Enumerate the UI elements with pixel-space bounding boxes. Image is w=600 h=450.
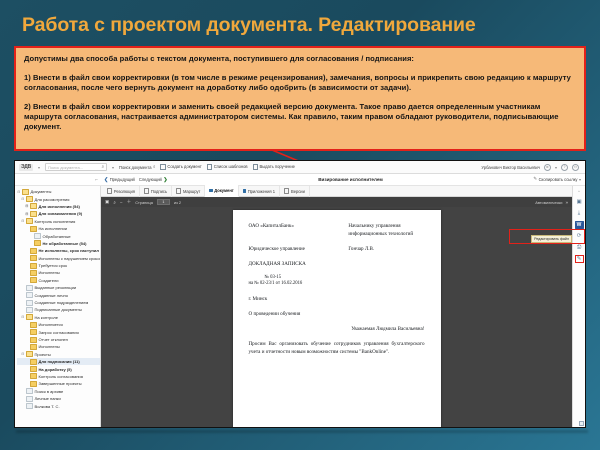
record-navigation: ❮ Предыдущий Следующий ❯ [101,177,168,183]
document-viewer[interactable]: ОАО «КапиталБанк» Начальнику управления … [101,207,572,428]
prev-record-label: Предыдущий [110,177,135,182]
chevron-down-icon: ▾ [579,177,581,182]
folder-icon [30,366,37,372]
sidebar-item[interactable]: Исполнены с нарушением сроков [17,255,100,262]
sidebar-item-label: Не обработанные (54) [43,241,87,246]
blue-square-icon [209,189,212,192]
sidebar-item-label: Для рассмотрения [35,197,70,202]
sidebar-item-label: Требуется срок [39,263,67,268]
sidebar-item[interactable]: Волкова Т. С. [17,402,100,409]
nav-link-label: Список шаблонов [214,164,248,169]
folder-icon [30,248,37,254]
list-icon [207,164,212,169]
help-icon[interactable]: ? [561,164,568,171]
tab-4[interactable]: Документ [205,185,238,197]
sidebar-item[interactable]: ⊟Контроль исполнения [17,218,100,225]
zoom-out-icon[interactable]: − [120,200,123,205]
sidebar-item-label: Не исполнены, срок наступил [39,248,99,253]
folder-icon [30,277,37,283]
document-letterhead: ОАО «КапиталБанк» Начальнику управления … [249,222,425,238]
sidebar-item[interactable]: Выданные резолюции [17,284,100,291]
search-input[interactable]: Поиск документа... ⌕ [45,163,107,171]
folder-icon [30,255,37,261]
tree-expand-icon[interactable]: ⊟ [25,204,29,208]
nav-link-search-document[interactable]: Поиск документа ⌕ [119,165,155,170]
document-dept: Юридическое управление [249,245,339,253]
sidebar-item[interactable]: ⊟На контроле [17,314,100,321]
document-addressee: Начальнику управления информационных тех… [348,222,424,238]
tree-expand-icon[interactable]: ⊟ [21,197,25,201]
viewer-toolbar: ▣ ⌕ − ＋ Страница 1 из 2 Автоматически » [101,197,572,207]
folder-icon [30,263,37,269]
nav-link-templates[interactable]: Список шаблонов [207,164,248,169]
zoom-in-icon[interactable]: ＋ [127,199,132,205]
sidebar-item[interactable]: Не исполнены, срок наступил [17,247,100,254]
route-icon [176,188,181,193]
sidebar-item[interactable]: Поиск в архиве [17,388,100,395]
sidebar-item-label: Личные папки [35,396,61,401]
prev-record-button[interactable]: ❮ Предыдущий [104,177,135,183]
sidebar-collapse-area[interactable]: ⌐ [15,177,101,183]
chevron-left-icon: ❮ [104,177,108,183]
tab-label: Резолюция [114,186,135,197]
folder-icon [26,351,33,357]
document-tabs[interactable]: РезолюцияПодписьМаршрутДокументПриложени… [101,186,572,197]
sidebar-item-label: Подписанные документы [35,307,82,312]
folder-icon [34,240,41,246]
sidebar-item[interactable]: ⊟Для ознакомления (9) [17,210,100,217]
sidebar-item-label: Исполняется [39,322,63,327]
document-greeting: Уважаемая Людмила Васильевна! [249,325,425,333]
sidebar-item[interactable]: Не обработанные (54) [17,240,100,247]
tab-label: Версии [291,186,305,197]
sidebar-item-label: Волкова Т. С. [35,404,60,409]
power-icon[interactable]: ⏻ [572,164,579,171]
copy-link-label: Скопировать ссылку [539,177,578,182]
document-icon [160,164,165,169]
document-city: г. Минск [249,295,425,303]
folder-icon [26,403,33,409]
search-options-chevron-icon[interactable]: ▾ [112,165,114,170]
sidebar-item-label: Завершенные проекты [39,381,82,386]
sidebar-item[interactable]: Контроль согласования [17,373,100,380]
sidebar-item-label: Запрос согласования [39,330,79,335]
callout-paragraph-3: 2) Внести в файл свои корректировки и за… [24,102,576,133]
application-window: ЭДВ ▾ Поиск документа... ⌕ ▾ Поиск докум… [14,160,586,428]
sidebar-item[interactable]: ⊟Проекты [17,351,100,358]
file-action-rail[interactable]: ^ ▣⤓W⟳⎙✎ [572,186,585,428]
document-body: Просим Вас организовать обучение сотрудн… [249,340,425,356]
link-icon: ✎ [533,177,537,181]
sidebar-item-label: Созданные подразделением [35,300,89,305]
folder-icon [26,388,33,394]
slide: Работа с проектом документа. Редактирова… [0,0,600,450]
copy-link-button[interactable]: ✎ Скопировать ссылку ▾ [533,177,585,182]
folder-icon [26,307,33,313]
document-type: ДОКЛАДНАЯ ЗАПИСКА [249,260,425,268]
tree-expand-icon[interactable]: ⊟ [25,212,29,216]
document-org: ОАО «КапиталБанк» [249,222,339,238]
document-header-bar: ⌐ ❮ Предыдущий Следующий ❯ Визирование и… [15,174,585,186]
user-name: Урбанович Виктор Васильевич [481,165,540,170]
folder-icon [34,233,41,239]
document-reply-to: на № 02-23/1 от 16.02.2016 [249,281,425,287]
document-dept-row: Юридическое управление Гончар Л.В. [249,245,425,253]
user-menu-chevron-icon[interactable]: ▾ [555,165,557,170]
sidebar-item-label: Исполнены с нарушением сроков [39,256,102,261]
viewer-toolbar-right: Автоматически » [535,200,568,205]
nav-link-assign-task[interactable]: Выдать поручение [253,164,295,169]
addressee-name: Гончар Л.В. [348,245,424,253]
addressee-line-1: Начальнику управления [348,222,424,230]
sidebar-item-label: Для ознакомления (9) [39,211,83,216]
sidebar-item-label: Выданные резолюции [35,285,77,290]
sidebar-item[interactable]: Отчет отклонен [17,336,100,343]
sidebar-item[interactable]: Исполняется [17,321,100,328]
user-area: Урбанович Виктор Васильевич ⚙ ▾ ? ⏻ [481,164,581,171]
sidebar-item-label: На исполнении [39,226,68,231]
folder-icon [30,337,37,343]
sidebar-item-label: Для исполнения (54) [39,204,80,209]
nav-link-label: Поиск документа [119,165,151,170]
document-subject: О проведении обучения [249,310,425,318]
sidebar-item-label: Контроль согласования [39,374,83,379]
folder-icon [26,196,33,202]
sidebar-item-label: Контроль исполнения [35,219,76,224]
sidebar-item[interactable]: Исполнены [17,343,100,350]
sidebar-item[interactable]: ⊟Документы [17,188,100,195]
sidebar-item[interactable]: Создатели [17,277,100,284]
tree-expand-icon[interactable]: ⊟ [21,315,25,319]
sidebar-item[interactable]: Требуется срок [17,262,100,269]
folder-icon [26,314,33,320]
folder-icon [30,226,37,232]
sidebar-item-label: Исполнены [39,270,60,275]
sidebar-item[interactable]: Запрос согласования [17,328,100,335]
document-page: ОАО «КапиталБанк» Начальнику управления … [233,210,441,428]
collapse-icon[interactable]: ⌐ [95,177,98,183]
next-record-label: Следующий [139,177,162,182]
folder-icon [30,329,37,335]
doc-icon [284,188,289,193]
sidebar-tree[interactable]: ⊟Документы⊟Для рассмотрения⊟Для исполнен… [15,186,101,428]
folder-icon [26,218,33,224]
tab-label: Документ [214,185,234,196]
more-options-icon[interactable]: » [565,200,568,205]
search-icon: ⌕ [102,165,104,169]
folder-icon [26,396,33,402]
edit-file-icon[interactable]: ✎ [575,255,584,263]
page-number-input[interactable]: 1 [157,199,170,205]
pen-icon [144,188,149,193]
sidebar-item[interactable]: Созданные подразделением [17,299,100,306]
sidebar-toggle-icon[interactable]: ▣ [105,199,109,205]
refresh-icon[interactable]: ⟳ [575,232,584,240]
folder-icon [30,322,37,328]
document-task-title: Визирование исполнителем [168,177,534,182]
page-label: Страница [135,200,153,205]
search-icon: ⌕ [153,165,155,169]
next-record-button[interactable]: Следующий ❯ [139,177,168,183]
folder-icon [26,300,33,306]
folder-icon [26,292,33,298]
tab-2[interactable]: Подпись [140,186,172,197]
sidebar-item-label: Создатели [39,278,59,283]
window-shadow [16,430,588,433]
tree-expand-icon[interactable]: ⊟ [21,352,25,356]
sidebar-item-label: Документы [31,189,52,194]
sidebar-item-label: Обработанные [43,234,71,239]
preview-icon[interactable]: ▣ [575,198,584,206]
print-icon[interactable]: ⎙ [575,244,584,252]
sidebar-item[interactable]: Созданные лично [17,291,100,298]
search-placeholder: Поиск документа... [48,165,100,170]
nav-link-label: Выдать поручение [259,164,294,169]
callout-box: Допустимы два способа работы с текстом д… [14,46,586,151]
sidebar-item[interactable]: Завершенные проекты [17,380,100,387]
folder-icon [30,381,37,387]
gear-icon[interactable]: ⚙ [544,164,551,171]
rail-collapse-icon[interactable]: ^ [578,189,580,194]
page-title: Работа с проектом документа. Редактирова… [22,14,476,37]
sidebar-item-label: Поиск в архиве [35,389,64,394]
sidebar-item[interactable]: Исполнены [17,269,100,276]
zoom-mode-label[interactable]: Автоматически [535,200,562,205]
tree-expand-icon[interactable]: ⊟ [21,219,25,223]
folder-icon [30,270,37,276]
tab-label: Приложения 1 [248,186,275,197]
sidebar-item[interactable]: ⊟Для рассмотрения [17,195,100,202]
nav-link-create-document[interactable]: Создать документ [160,164,201,169]
sidebar-item[interactable]: Подписанные документы [17,306,100,313]
sidebar-item-label: Отчет отклонен [39,337,68,342]
tab-6[interactable]: Версии [280,186,310,197]
download-icon[interactable]: ⤓ [575,209,584,217]
resize-handle[interactable] [579,421,584,426]
main-panel: РезолюцияПодписьМаршрутДокументПриложени… [101,186,572,428]
tab-label: Подпись [151,186,167,197]
tab-3[interactable]: Маршрут [172,186,205,197]
chevron-down-icon[interactable]: ▾ [38,165,40,170]
sidebar-item[interactable]: Для подписания (11) [17,358,100,365]
sidebar-item[interactable]: Личные папки [17,395,100,402]
sidebar-item[interactable]: На исполнении [17,225,100,232]
tree-expand-icon[interactable]: ⊟ [17,190,21,194]
addressee-line-2: информационных технологий [348,230,424,238]
sidebar-item[interactable]: ⊟Для исполнения (54) [17,203,100,210]
task-icon [253,164,258,169]
page-total-label: из 2 [174,200,181,205]
folder-icon [30,373,37,379]
sidebar-item-label: Проекты [35,352,51,357]
callout-paragraph-1: Допустимы два способа работы с текстом д… [24,54,576,64]
tab-1[interactable]: Резолюция [103,186,140,197]
tab-label: Маршрут [183,186,200,197]
sidebar-item-label: Созданные лично [35,293,68,298]
folder-icon [30,211,37,217]
global-toolbar: ЭДВ ▾ Поиск документа... ⌕ ▾ Поиск докум… [15,161,585,174]
folder-icon [26,285,33,291]
edit-file-tooltip: Редактировать файл [531,235,572,243]
word-icon[interactable]: W [575,221,584,229]
callout-paragraph-2: 1) Внести в файл свои корректировки (в т… [24,73,576,93]
nav-link-label: Создать документ [167,164,201,169]
tab-5[interactable]: Приложения 1 [239,186,280,197]
doc-icon [107,188,112,193]
folder-icon [30,203,37,209]
folder-icon [22,189,29,195]
app-logo: ЭДВ [19,164,33,171]
window-body: ⊟Документы⊟Для рассмотрения⊟Для исполнен… [15,186,585,428]
sidebar-item-label: На контроле [35,315,58,320]
magnifier-icon[interactable]: ⌕ [113,200,116,205]
sidebar-item[interactable]: На доработку (5) [17,365,100,372]
folder-icon [30,359,37,365]
sidebar-item-label: Для подписания (11) [39,359,80,364]
sidebar-item-label: На доработку (5) [39,367,72,372]
blue-square-icon [243,189,246,192]
sidebar-item-label: Исполнены [39,344,60,349]
folder-icon [30,344,37,350]
sidebar-item[interactable]: Обработанные [17,232,100,239]
